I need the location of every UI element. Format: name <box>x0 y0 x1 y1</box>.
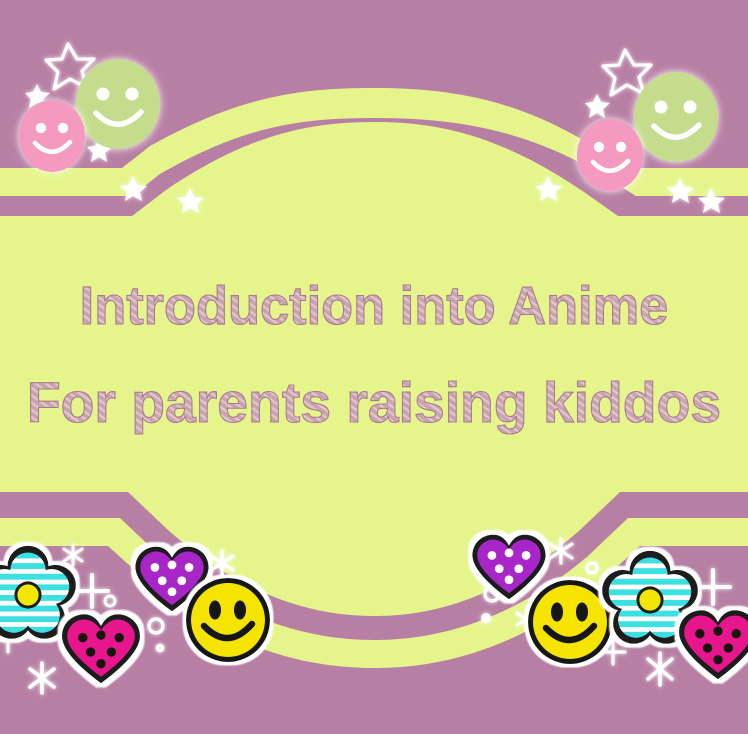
title-line-1: Introduction into Anime <box>80 276 669 336</box>
title-line-2: For parents raising kiddos <box>27 370 721 434</box>
slide-canvas: Introduction into Anime For parents rais… <box>0 0 748 734</box>
title-text-group: Introduction into Anime For parents rais… <box>0 262 748 472</box>
title-block: Introduction into Anime For parents rais… <box>0 262 748 477</box>
